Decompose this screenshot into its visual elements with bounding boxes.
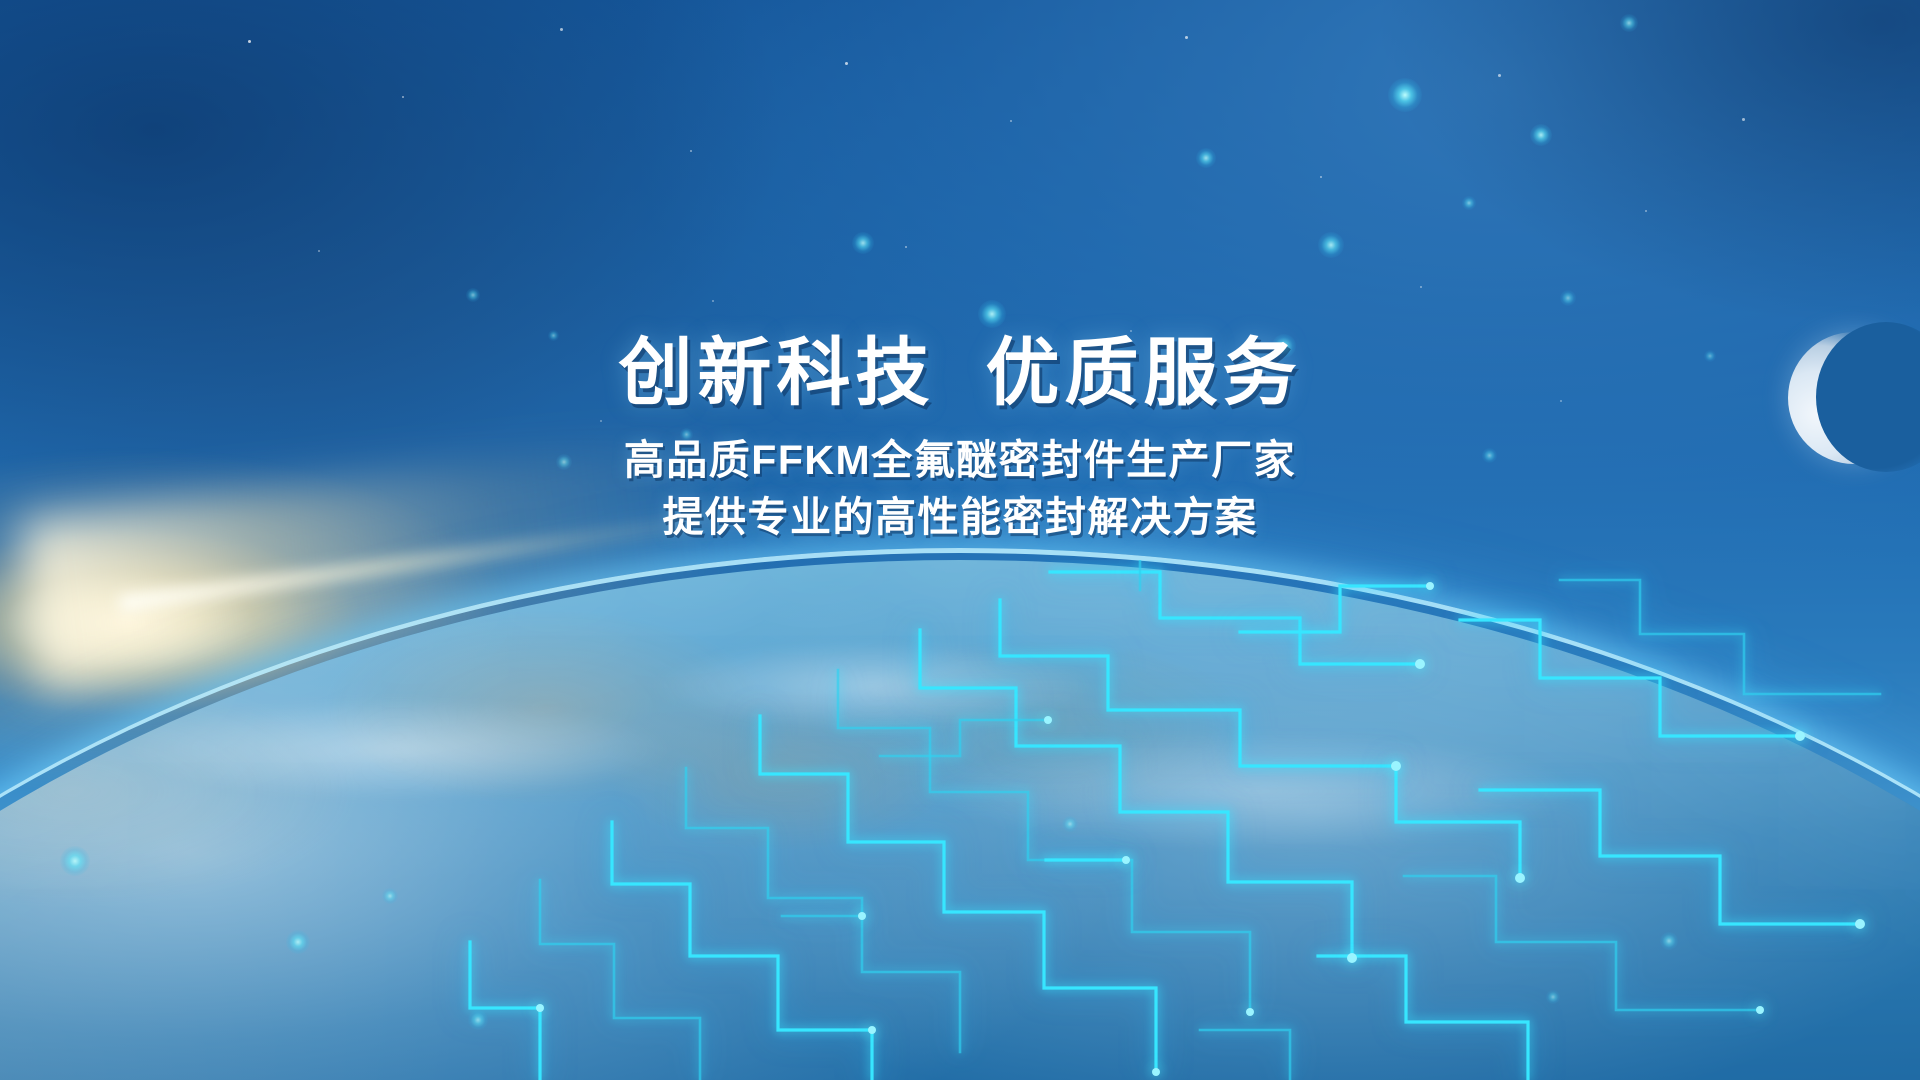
hero-copy: 创新科技 优质服务 高品质FFKM全氟醚密封件生产厂家 提供专业的高性能密封解决…	[0, 336, 1920, 545]
hero-banner: 创新科技 优质服务 高品质FFKM全氟醚密封件生产厂家 提供专业的高性能密封解决…	[0, 0, 1920, 1080]
subtitle-line-2: 提供专业的高性能密封解决方案	[0, 489, 1920, 546]
circuit-traces	[0, 560, 1920, 1080]
page-title: 创新科技 优质服务	[0, 336, 1920, 410]
subtitle-line-1: 高品质FFKM全氟醚密封件生产厂家	[0, 432, 1920, 489]
subtitle-block: 高品质FFKM全氟醚密封件生产厂家 提供专业的高性能密封解决方案	[0, 432, 1920, 545]
